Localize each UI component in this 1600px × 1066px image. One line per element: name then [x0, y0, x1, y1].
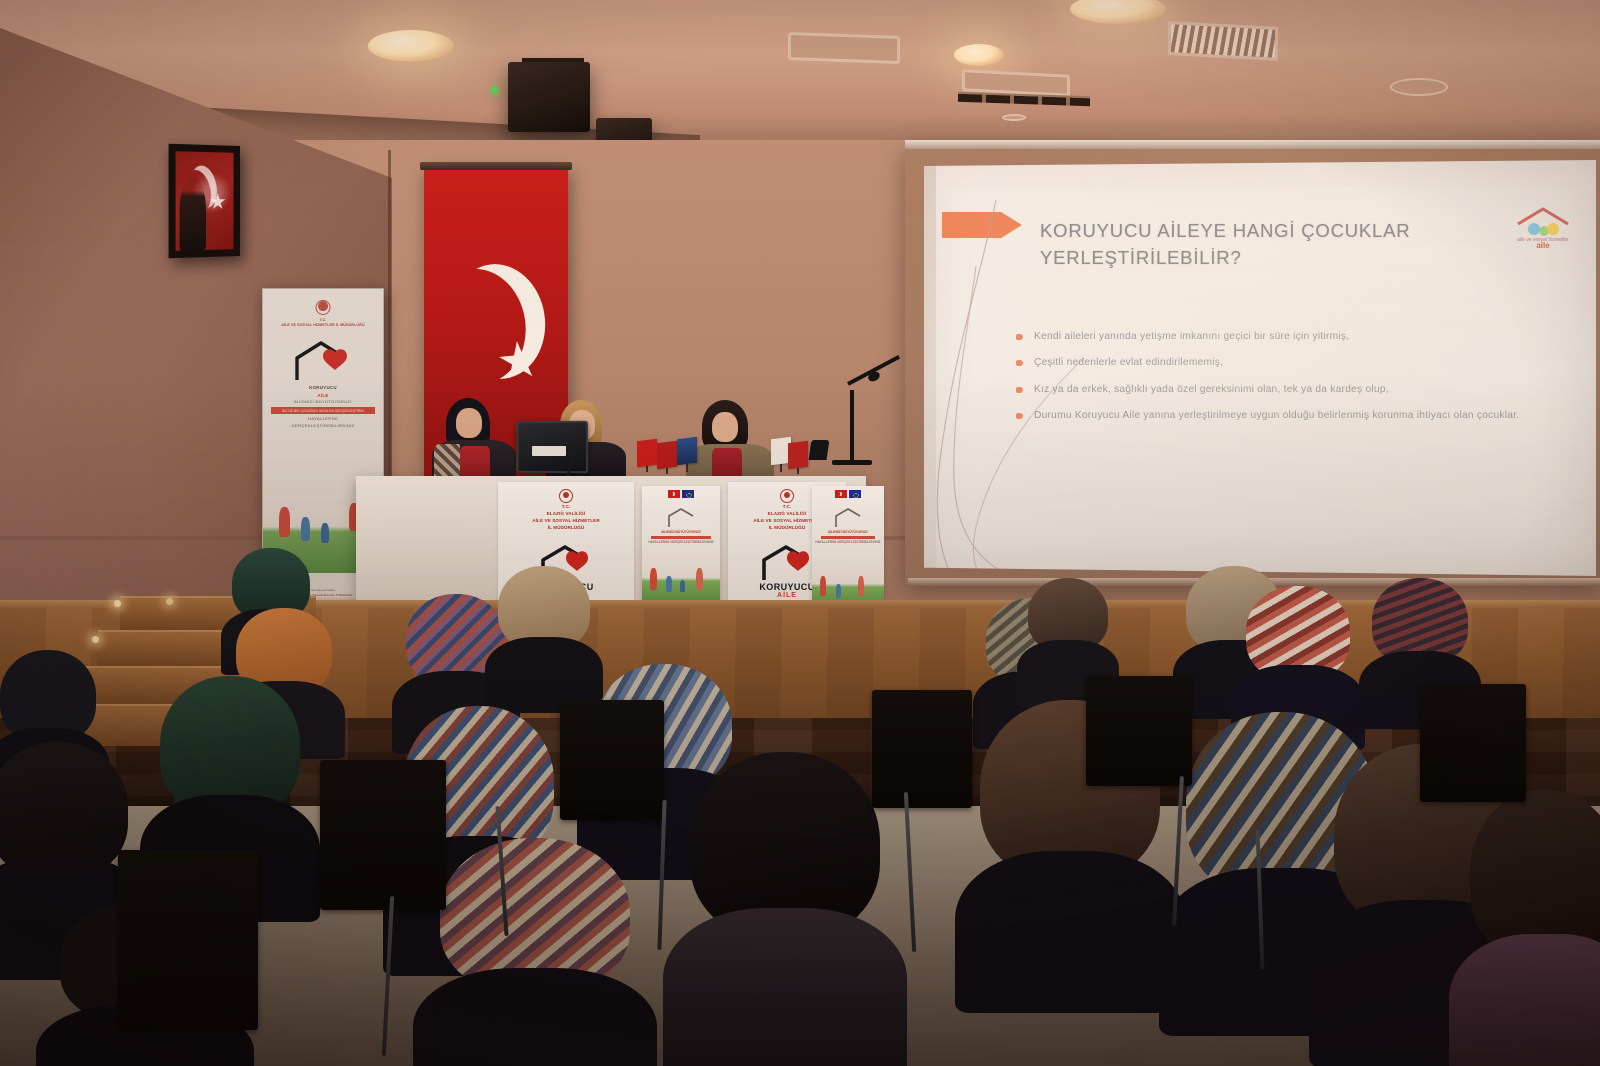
upper-body	[1449, 934, 1600, 1066]
chair-back	[872, 690, 972, 808]
illustration-figure	[301, 517, 310, 541]
turkey-flag-icon	[835, 490, 847, 498]
illustration-figure	[666, 576, 672, 592]
ceiling-air-vent	[1168, 21, 1278, 61]
table-poster-line4: İL MÜDÜRLÜĞÜ	[498, 525, 634, 532]
leaflet-flags	[642, 490, 720, 498]
audience-member	[498, 566, 590, 702]
koruyucu-aile-house-logo	[759, 542, 815, 582]
ceiling-smoke-detector	[1390, 78, 1448, 96]
rollup-slogan-ribbon: SİZ DE BİR ÇOCUĞUN HAYALİNİ GERÇEKLEŞTİR…	[271, 407, 374, 414]
slide-bullet-item: Durumu Koruyucu Aile yanına yerleştirilm…	[1016, 409, 1550, 423]
svg-text:aile: aile	[1536, 241, 1550, 250]
leaflet-flags	[812, 490, 884, 498]
ceiling-sprinkler	[1002, 114, 1026, 121]
turkey-flag-cloth	[788, 441, 808, 469]
crescent-icon	[442, 258, 552, 385]
ministry-crest-icon	[315, 298, 331, 316]
illustration-figure	[836, 584, 841, 598]
slide-title-line1: KORUYUCU AİLEYE HANGİ ÇOCUKLAR	[1040, 218, 1520, 245]
leaflet-band	[651, 536, 710, 539]
slide-bullet-item: Kendi aileleri yanında yetişme imkanını …	[1016, 330, 1550, 344]
step-light	[166, 598, 173, 605]
table-poster-line2: ELAZIĞ VALİLİĞİ	[498, 511, 634, 518]
house-heart-icon	[291, 338, 355, 382]
eu-flag-icon	[849, 490, 861, 498]
navy-flag-cloth	[677, 437, 697, 465]
step-light	[114, 600, 121, 607]
aile-house-logo-icon: aile ve sosyal hizmetler aile	[1512, 204, 1574, 250]
rollup-slogan-line2: HAYALLERİNİ	[263, 416, 383, 422]
house-icon	[833, 506, 863, 528]
rollup-logo-word1: KORUYUCU	[263, 385, 383, 390]
chair-back	[1420, 684, 1526, 802]
turkey-flag-cloth	[637, 439, 657, 467]
face	[712, 412, 738, 442]
chair-back	[320, 760, 446, 910]
projection-screen-roller	[905, 140, 1600, 149]
leaflet-poster: AİLEMİZİ BÜYÜTÜYORUZ! HAYALLERİNİ GERÇEK…	[812, 486, 884, 610]
leaflet-sub: HAYALLERİNİ GERÇEKLEŞTİREBİLİRSİNİZ	[812, 540, 884, 545]
presentation-slide: KORUYUCU AİLEYE HANGİ ÇOCUKLAR YERLEŞTİR…	[924, 160, 1596, 576]
ceiling-dome-light	[368, 30, 454, 62]
rollup-logo-word2: AİLE	[263, 393, 383, 398]
laptop-label	[532, 446, 566, 456]
ataturk-portrait-frame	[169, 144, 240, 259]
chair-back	[118, 850, 258, 1030]
ministry-crest-icon	[780, 488, 794, 503]
slide-title: KORUYUCU AİLEYE HANGİ ÇOCUKLAR YERLEŞTİR…	[1040, 218, 1520, 272]
slide-bullet-item: Kız ya da erkek, sağlıklı yada özel gere…	[1016, 383, 1550, 397]
turkey-flag-icon	[668, 490, 680, 498]
house-heart-icon	[759, 542, 815, 582]
upper-body	[955, 851, 1185, 1013]
chair-back	[1086, 676, 1192, 786]
leaflet-headline: AİLEMİZİ BÜYÜTÜYORUZ!	[642, 530, 720, 535]
ceiling-speaker-box	[508, 62, 590, 132]
table-poster-line3: AİLE VE SOSYAL HİZMETLER	[498, 518, 634, 525]
stage-floor-monitor	[809, 440, 830, 460]
house-icon	[666, 506, 696, 528]
audience-member	[690, 752, 880, 1052]
illustration-figure	[696, 568, 703, 590]
slide-bullet-list: Kendi aileleri yanında yetişme imkanını …	[1016, 330, 1550, 436]
ceiling-access-panel	[788, 32, 900, 64]
conference-hall-photo: T.C. AİLE VE SOSYAL HİZMETLER İL MÜDÜRLÜ…	[0, 0, 1600, 1066]
ceiling-dome-light	[954, 44, 1004, 66]
aile-logo: aile ve sosyal hizmetler aile	[1512, 204, 1574, 250]
step-light	[92, 636, 99, 643]
flag-rod	[420, 162, 572, 170]
illustration-figure	[680, 580, 685, 592]
slide-bullet-item: Çeşitli nedenlerle evlat edindirilememiş…	[1016, 356, 1550, 370]
illustration-figure	[820, 576, 826, 596]
illustration-figure	[321, 523, 329, 543]
rollup-slogan-line3: GERÇEKLEŞTİREBİLİRSİNİZ	[263, 423, 383, 429]
koruyucu-aile-house-logo	[291, 338, 355, 382]
wall-status-led	[492, 88, 497, 93]
leaflet-poster: AİLEMİZİ BÜYÜTÜYORUZ! HAYALLERİNİ GERÇEK…	[642, 486, 720, 604]
table-poster-line1: T.C.	[498, 504, 634, 511]
ataturk-figure	[179, 177, 206, 251]
leaflet-headline: AİLEMİZİ BÜYÜTÜYORUZ!	[812, 530, 884, 535]
illustration-figure	[650, 568, 657, 590]
upper-body	[663, 908, 906, 1066]
ministry-crest-icon	[559, 488, 573, 503]
slide-title-line2: YERLEŞTİRİLEBİLİR?	[1040, 245, 1520, 272]
illustration-figure	[858, 576, 864, 596]
turkey-desk-flag	[656, 442, 678, 474]
leaflet-sub: HAYALLERİNİ GERÇEKLEŞTİREBİLİRSİNİZ	[642, 540, 720, 545]
ataturk-portrait-image	[176, 151, 234, 251]
audience-member	[1470, 790, 1600, 1066]
illustration-figure	[279, 507, 290, 537]
rollup-ministry-line3: AİLE VE SOSYAL HİZMETLER İL MÜDÜRLÜĞÜ	[263, 323, 383, 328]
navy-desk-flag	[676, 438, 698, 472]
turkey-desk-flag	[636, 440, 658, 472]
turkey-desk-flag	[788, 442, 808, 474]
eu-flag-icon	[682, 490, 694, 498]
face	[456, 408, 482, 438]
upper-body	[413, 968, 656, 1066]
mic-stand-post	[850, 390, 854, 462]
leaflet-band	[821, 536, 876, 539]
leaflet-house-logo	[833, 506, 863, 528]
chair-back	[560, 700, 664, 820]
turkey-flag-cloth	[657, 441, 677, 469]
audience-member	[440, 838, 630, 1066]
rollup-slogan-line1: AİLEMİZİ BÜYÜTÜYORUZ!	[263, 399, 383, 405]
leaflet-house-logo	[666, 506, 696, 528]
leaflet-illustration	[642, 560, 720, 604]
